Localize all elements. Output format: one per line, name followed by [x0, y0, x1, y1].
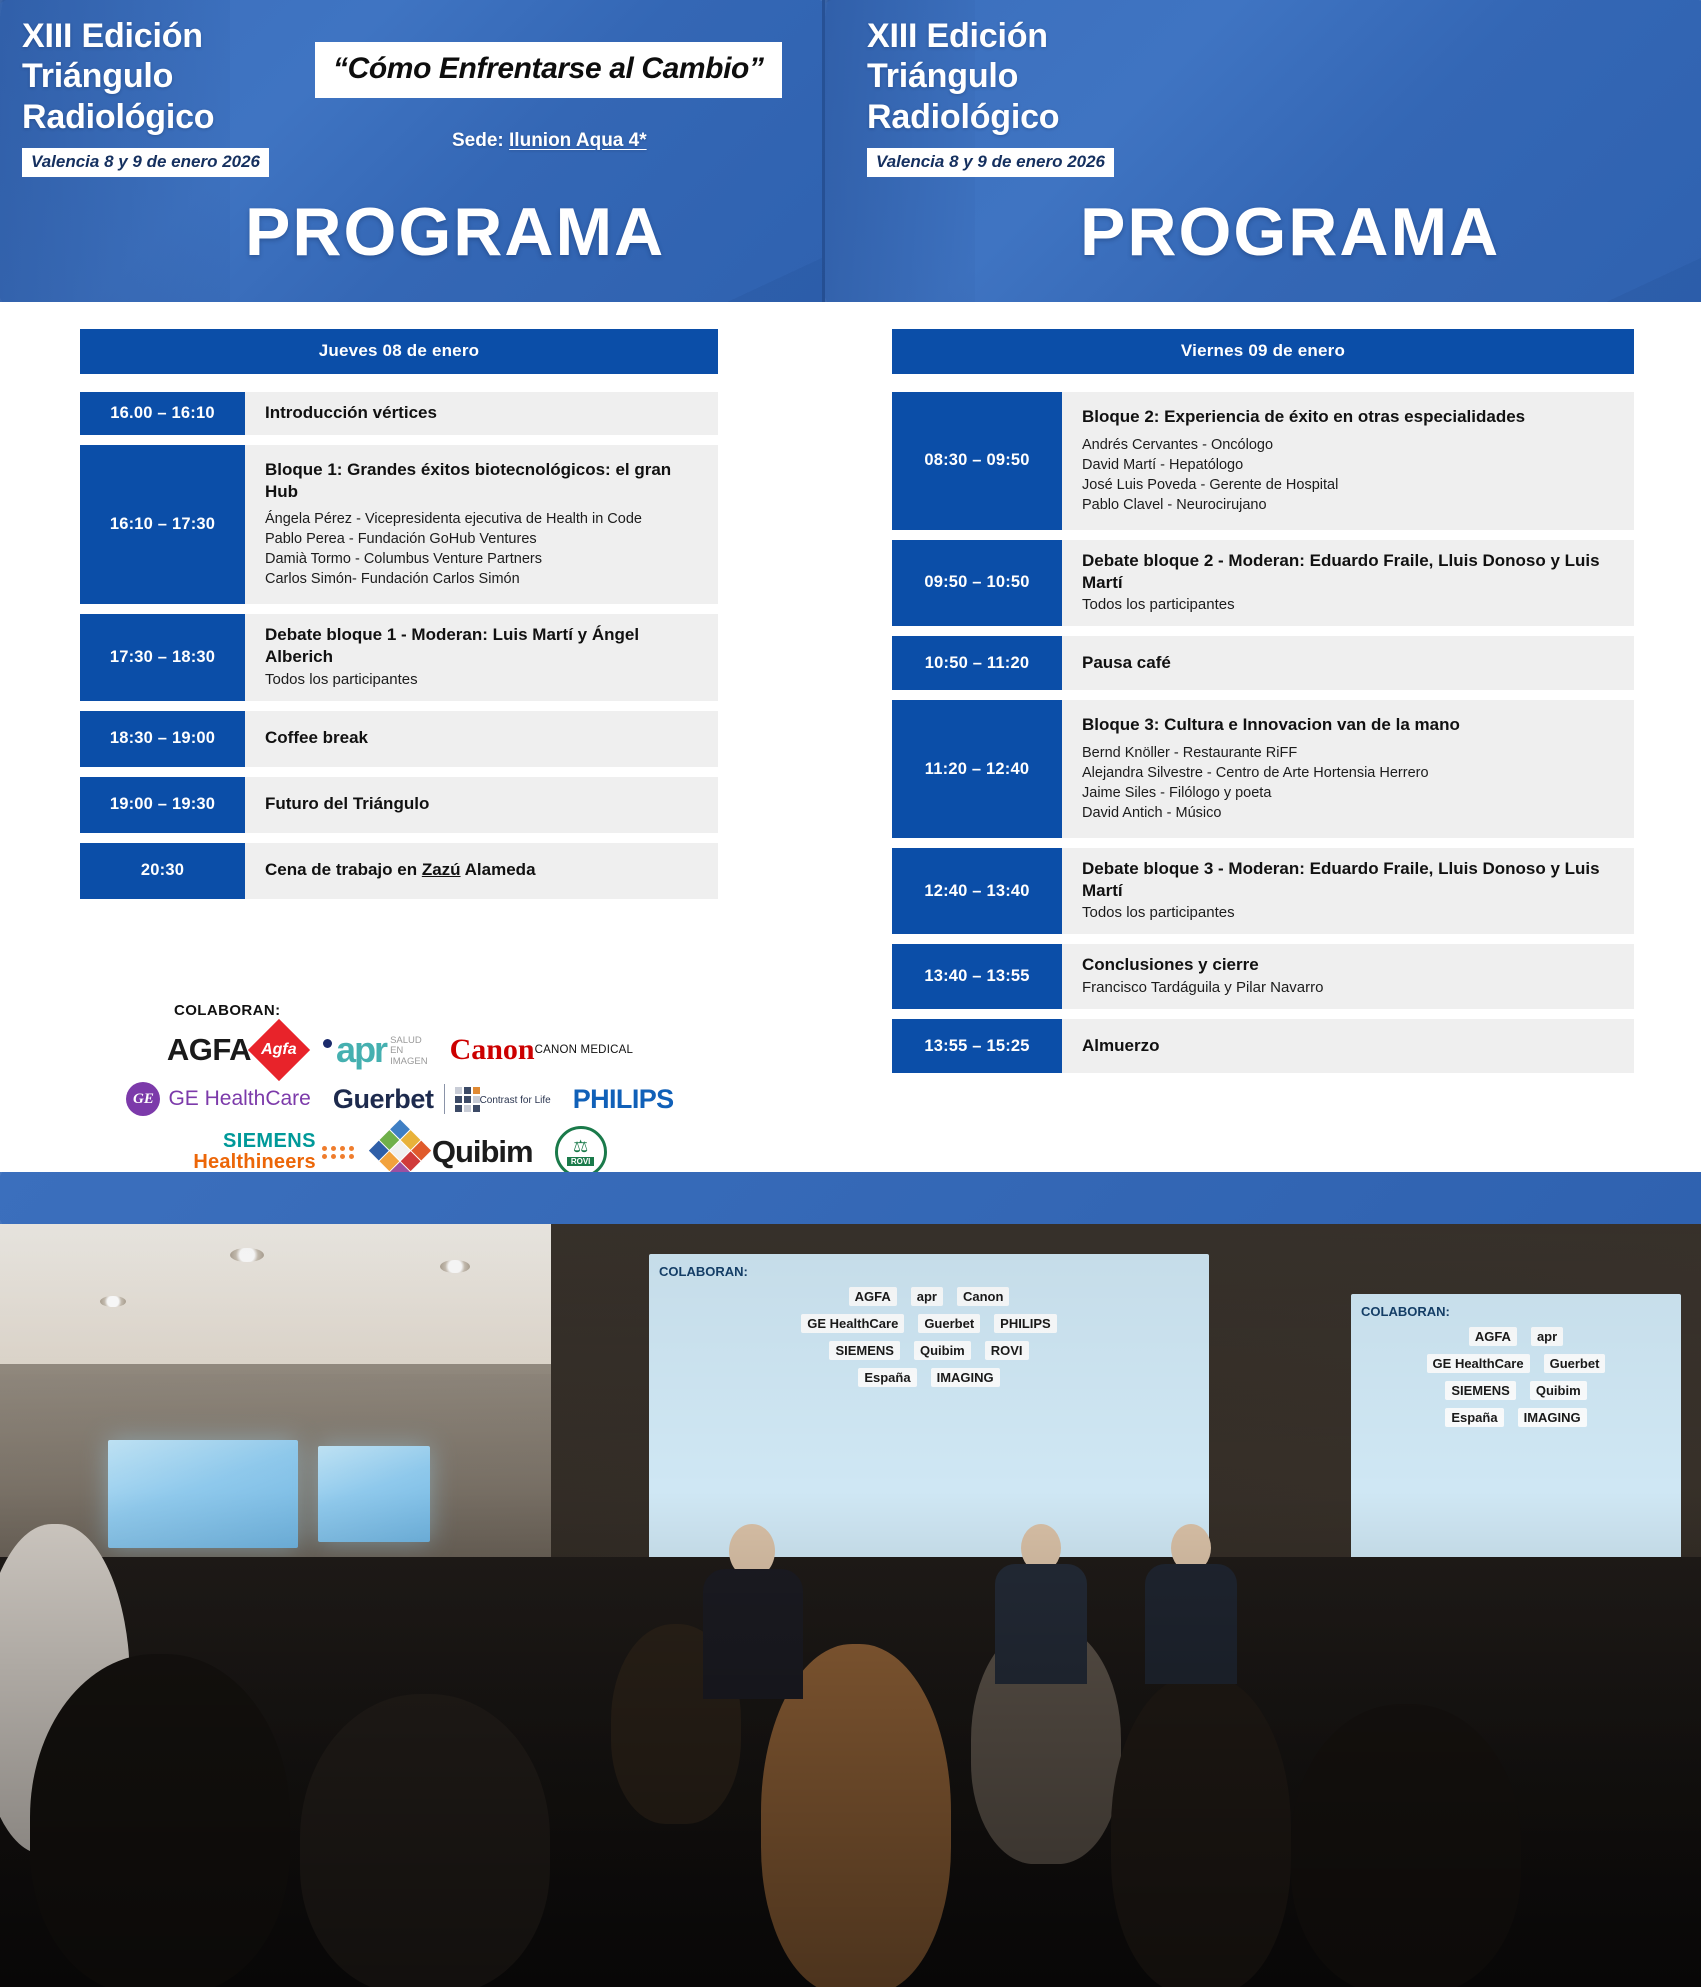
speaker-item: Bernd Knöller - Restaurante RiFF: [1082, 743, 1618, 763]
date-chip-right: Valencia 8 y 9 de enero 2026: [867, 148, 1114, 177]
slide-logo-ge: GE HealthCare: [801, 1314, 904, 1333]
header-band: XIII Edición Triángulo Radiológico Valen…: [0, 0, 1701, 302]
table-row[interactable]: 10:50 – 11:20 Pausa café: [892, 636, 1634, 690]
apr-dot-icon: [323, 1039, 332, 1048]
brand-line-3-right: Radiológico: [867, 97, 1059, 137]
slide-logo-siemens: SIEMENS: [829, 1341, 900, 1360]
hero-left: XIII Edición Triángulo Radiológico Valen…: [0, 0, 822, 302]
table-row[interactable]: 11:20 – 12:40 Bloque 3: Cultura e Innova…: [892, 700, 1634, 838]
speaker-item: Ángela Pérez - Vicepresidenta ejecutiva …: [265, 509, 702, 529]
row-title: Conclusiones y cierre: [1082, 954, 1618, 976]
row-time: 13:55 – 15:25: [892, 1019, 1062, 1073]
rovi-seal-icon: ⚖ ROVI: [555, 1126, 607, 1178]
siemens-line-1: SIEMENS: [193, 1131, 315, 1152]
speaker-item: Carlos Simón- Fundación Carlos Simón: [265, 569, 702, 589]
quibim-logo: Quibim: [377, 1129, 533, 1175]
table-row[interactable]: 16.00 – 16:10 Introducción vértices: [80, 392, 718, 435]
slide-logo-apr: apr: [1531, 1327, 1563, 1346]
row-title: Debate bloque 3 - Moderan: Eduardo Frail…: [1082, 858, 1618, 902]
slide-logo-row: AGFA apr Canon: [659, 1287, 1199, 1306]
row-body: Conclusiones y cierre Francisco Tardágui…: [1062, 944, 1634, 1009]
ge-wordmark: GE HealthCare: [168, 1087, 310, 1111]
slide-logo-rovi: ROVI: [985, 1341, 1029, 1360]
row-title: Debate bloque 1 - Moderan: Luis Martí y …: [265, 624, 702, 668]
row-subtitle: Francisco Tardáguila y Pilar Navarro: [1082, 978, 1618, 998]
row-time: 16.00 – 16:10: [80, 392, 245, 435]
slide-logo-siemens: SIEMENS: [1445, 1381, 1516, 1400]
slide-logo-canon: Canon: [957, 1287, 1009, 1306]
agfa-logo: AGFA Agfa: [167, 1028, 301, 1072]
siemens-dots-icon: [322, 1146, 355, 1159]
speaker-item: José Luis Poveda - Gerente de Hospital: [1082, 475, 1618, 495]
day2-header: Viernes 09 de enero: [892, 329, 1634, 374]
slide-logo-ge: GE HealthCare: [1427, 1354, 1530, 1373]
guerbet-grid-icon: [455, 1087, 480, 1112]
row-title: Bloque 2: Experiencia de éxito en otras …: [1082, 406, 1618, 428]
row-time: 17:30 – 18:30: [80, 614, 245, 700]
speaker-item: Pablo Perea - Fundación GoHub Ventures: [265, 529, 702, 549]
canon-subtitle: CANON MEDICAL: [535, 1044, 633, 1056]
rovi-scales-icon: ⚖: [573, 1138, 588, 1155]
slide-logo-row: España IMAGING: [659, 1368, 1199, 1387]
row-time: 18:30 – 19:00: [80, 711, 245, 767]
slide-logo-philips: PHILIPS: [994, 1314, 1057, 1333]
venue-link[interactable]: Zazú: [422, 860, 461, 879]
speaker-item: Jaime Siles - Filólogo y poeta: [1082, 783, 1618, 803]
row-time: 11:20 – 12:40: [892, 700, 1062, 838]
sponsors-title: COLABORAN:: [174, 1002, 720, 1019]
row-body: Bloque 2: Experiencia de éxito en otras …: [1062, 392, 1634, 530]
conference-photo-right: COLABORAN: AGFA apr Canon GE HealthCare …: [551, 1224, 1701, 1987]
row-body: Bloque 3: Cultura e Innovacion van de la…: [1062, 700, 1634, 838]
programa-title-right: PROGRAMA: [1080, 193, 1500, 271]
apr-wordmark: apr: [336, 1033, 386, 1066]
slide-logo-espana: España: [858, 1368, 916, 1387]
row-title: Debate bloque 2 - Moderan: Eduardo Frail…: [1082, 550, 1618, 594]
sponsor-row-1: AGFA Agfa apr SALUD EN IMAGEN: [80, 1028, 720, 1072]
slide-logo-espana: España: [1445, 1408, 1503, 1427]
slide-logo-row: España IMAGING: [1361, 1408, 1671, 1427]
row-body: Bloque 1: Grandes éxitos biotecnológicos…: [245, 445, 718, 605]
row-title: Bloque 3: Cultura e Innovacion van de la…: [1082, 714, 1618, 736]
canon-wordmark: Canon: [450, 1036, 535, 1065]
row-title: Almuerzo: [1082, 1035, 1618, 1057]
row-body: Coffee break: [245, 711, 718, 767]
row-time: 19:00 – 19:30: [80, 777, 245, 833]
slide-logo-apr: apr: [911, 1287, 943, 1306]
speaker-item: David Martí - Hepatólogo: [1082, 455, 1618, 475]
photo-strip: COLABORAN: AGFA apr Canon GE HealthCare …: [0, 1224, 1701, 1987]
photo-top-strip: [0, 1172, 1701, 1224]
brand-line-1-right: XIII Edición: [867, 16, 1059, 56]
slide-logo-row: GE HealthCare Guerbet: [1361, 1354, 1671, 1373]
row-time: 20:30: [80, 843, 245, 899]
guerbet-top: Guerbet: [333, 1084, 480, 1115]
table-row[interactable]: 08:30 – 09:50 Bloque 2: Experiencia de é…: [892, 392, 1634, 530]
sponsor-row-2: GE GE HealthCare Guerbet: [80, 1082, 720, 1116]
row-subtitle: Todos los participantes: [1082, 903, 1618, 923]
table-row[interactable]: 16:10 – 17:30 Bloque 1: Grandes éxitos b…: [80, 445, 718, 605]
rovi-logo: ⚖ ROVI: [555, 1126, 607, 1178]
brand-title-left: XIII Edición Triángulo Radiológico: [22, 16, 214, 137]
attendee-body: [995, 1564, 1087, 1684]
ceiling-light-icon: [440, 1260, 470, 1273]
slide-logo-guerbet: Guerbet: [918, 1314, 980, 1333]
table-row[interactable]: 09:50 – 10:50 Debate bloque 2 - Moderan:…: [892, 540, 1634, 626]
slide-title: COLABORAN:: [659, 1264, 1199, 1279]
slide-logo-row: AGFA apr: [1361, 1327, 1671, 1346]
photo-band: COLABORAN: AGFA apr Canon GE HealthCare …: [0, 1172, 1701, 1987]
row-speakers: Andrés Cervantes - Oncólogo David Martí …: [1082, 435, 1618, 515]
slide-logo-quibim: Quibim: [1530, 1381, 1587, 1400]
row-time: 13:40 – 13:55: [892, 944, 1062, 1009]
speaker-person-body: [703, 1569, 803, 1699]
projection-screen: [108, 1440, 298, 1548]
row-body: Cena de trabajo en Zazú Alameda: [245, 843, 718, 899]
guerbet-tagline: Contrast for Life: [480, 1095, 551, 1106]
row-body: Debate bloque 1 - Moderan: Luis Martí y …: [245, 614, 718, 700]
canon-logo: Canon CANON MEDICAL: [450, 1036, 634, 1065]
row-body: Introducción vértices: [245, 392, 718, 435]
projection-screen-secondary: [318, 1446, 430, 1542]
table-row[interactable]: 17:30 – 18:30 Debate bloque 1 - Moderan:…: [80, 614, 718, 700]
row-subtitle: Todos los participantes: [265, 670, 702, 690]
quibim-wordmark: Quibim: [432, 1134, 533, 1170]
sede-label: Sede:: [452, 130, 504, 151]
slide-logo-quibim: Quibim: [914, 1341, 971, 1360]
row-title: Pausa café: [1082, 652, 1618, 674]
row-subtitle: Todos los participantes: [1082, 595, 1618, 615]
guerbet-logo: Guerbet Contrast for Life: [333, 1084, 551, 1115]
poster-page: XIII Edición Triángulo Radiológico Valen…: [0, 0, 1701, 1987]
sponsor-slide-secondary: COLABORAN: AGFA apr GE HealthCare Guerbe…: [1351, 1294, 1681, 1584]
row-time: 16:10 – 17:30: [80, 445, 245, 605]
slide-logo-agfa: AGFA: [849, 1287, 897, 1306]
ge-monogram-icon: GE: [126, 1082, 160, 1116]
table-row[interactable]: 13:40 – 13:55 Conclusiones y cierre Fran…: [892, 944, 1634, 1009]
row-time: 09:50 – 10:50: [892, 540, 1062, 626]
table-row[interactable]: 19:00 – 19:30 Futuro del Triángulo: [80, 777, 718, 833]
sponsor-row-3: SIEMENS Healthineers Quibim: [80, 1126, 720, 1178]
ceiling: [0, 1224, 551, 1374]
table-row[interactable]: 18:30 – 19:00 Coffee break: [80, 711, 718, 767]
row-time: 10:50 – 11:20: [892, 636, 1062, 690]
row-body: Futuro del Triángulo: [245, 777, 718, 833]
day1-column: Jueves 08 de enero 16.00 – 16:10 Introdu…: [0, 302, 822, 1172]
rovi-wordmark: ROVI: [567, 1157, 595, 1166]
conference-photo-left: [0, 1224, 551, 1987]
slide-title-secondary: COLABORAN:: [1361, 1304, 1671, 1319]
brand-title-right: XIII Edición Triángulo Radiológico: [867, 16, 1059, 137]
sede-line: Sede: Ilunion Aqua 4*: [452, 130, 647, 152]
brand-line-3: Radiológico: [22, 97, 214, 137]
philips-logo: PHILIPS: [573, 1084, 674, 1115]
row-time: 12:40 – 13:40: [892, 848, 1062, 934]
row-body: Pausa café: [1062, 636, 1634, 690]
table-row[interactable]: 20:30 Cena de trabajo en Zazú Alameda: [80, 843, 718, 899]
philips-wordmark: PHILIPS: [573, 1084, 674, 1115]
ceiling-light-icon: [100, 1296, 126, 1307]
slide-logo-row: SIEMENS Quibim ROVI: [659, 1341, 1199, 1360]
agfa-wordmark: AGFA: [167, 1032, 251, 1068]
row-speakers: Ángela Pérez - Vicepresidenta ejecutiva …: [265, 509, 702, 589]
apr-tagline: SALUD EN IMAGEN: [390, 1036, 427, 1068]
row-title: Coffee break: [265, 727, 702, 749]
attendee-body: [1145, 1564, 1237, 1684]
table-row[interactable]: 12:40 – 13:40 Debate bloque 3 - Moderan:…: [892, 848, 1634, 934]
row-title: Futuro del Triángulo: [265, 793, 702, 815]
apr-tag-3: IMAGEN: [390, 1057, 427, 1068]
brand-line-2: Triángulo: [22, 56, 214, 96]
speaker-item: Alejandra Silvestre - Centro de Arte Hor…: [1082, 763, 1618, 783]
day1-header: Jueves 08 de enero: [80, 329, 718, 374]
motto-chip: “Cómo Enfrentarse al Cambio”: [315, 42, 782, 98]
brand-line-1: XIII Edición: [22, 16, 214, 56]
hero-right: XIII Edición Triángulo Radiológico Valen…: [822, 0, 1701, 302]
speaker-item: David Antich - Músico: [1082, 803, 1618, 823]
siemens-wordmark-block: SIEMENS Healthineers: [193, 1131, 315, 1173]
row-body: Almuerzo: [1062, 1019, 1634, 1073]
sede-value[interactable]: Ilunion Aqua 4*: [509, 130, 647, 151]
row-title: Introducción vértices: [265, 402, 702, 424]
slide-logo-row: GE HealthCare Guerbet PHILIPS: [659, 1314, 1199, 1333]
schedule-columns: Jueves 08 de enero 16.00 – 16:10 Introdu…: [0, 302, 1701, 1172]
speaker-item: Damià Tormo - Columbus Venture Partners: [265, 549, 702, 569]
slide-logo-imaging: IMAGING: [931, 1368, 1000, 1387]
row-speakers: Bernd Knöller - Restaurante RiFF Alejand…: [1082, 743, 1618, 823]
audience-head: [1111, 1674, 1291, 1987]
guerbet-wordmark: Guerbet: [333, 1084, 434, 1115]
day2-column: Viernes 09 de enero 08:30 – 09:50 Bloque…: [822, 302, 1701, 1172]
speaker-item: Andrés Cervantes - Oncólogo: [1082, 435, 1618, 455]
row-body: Debate bloque 3 - Moderan: Eduardo Frail…: [1062, 848, 1634, 934]
audience-head: [300, 1694, 550, 1987]
row-title: Cena de trabajo en Zazú Alameda: [265, 859, 702, 881]
apr-logo: apr SALUD EN IMAGEN: [323, 1033, 428, 1068]
brand-line-2-right: Triángulo: [867, 56, 1059, 96]
table-row[interactable]: 13:55 – 15:25 Almuerzo: [892, 1019, 1634, 1073]
row-title: Bloque 1: Grandes éxitos biotecnológicos…: [265, 459, 702, 503]
speaker-item: Pablo Clavel - Neurocirujano: [1082, 495, 1618, 515]
slide-logo-agfa: AGFA: [1469, 1327, 1517, 1346]
row-body: Debate bloque 2 - Moderan: Eduardo Frail…: [1062, 540, 1634, 626]
date-chip-left: Valencia 8 y 9 de enero 2026: [22, 148, 269, 177]
slide-logo-row: SIEMENS Quibim: [1361, 1381, 1671, 1400]
ge-healthcare-logo: GE GE HealthCare: [126, 1082, 310, 1116]
siemens-line-2: Healthineers: [193, 1152, 315, 1173]
slide-logo-imaging: IMAGING: [1518, 1408, 1587, 1427]
agfa-diamond-label: Agfa: [261, 1041, 297, 1059]
agfa-diamond-icon: Agfa: [248, 1019, 310, 1081]
slide-logo-guerbet: Guerbet: [1544, 1354, 1606, 1373]
guerbet-divider: [444, 1084, 445, 1114]
programa-title-left: PROGRAMA: [245, 193, 665, 271]
siemens-healthineers-logo: SIEMENS Healthineers: [193, 1131, 354, 1173]
audience-head: [30, 1654, 290, 1987]
audience-head: [1291, 1704, 1521, 1987]
ceiling-light-icon: [230, 1248, 264, 1262]
row-time: 08:30 – 09:50: [892, 392, 1062, 530]
